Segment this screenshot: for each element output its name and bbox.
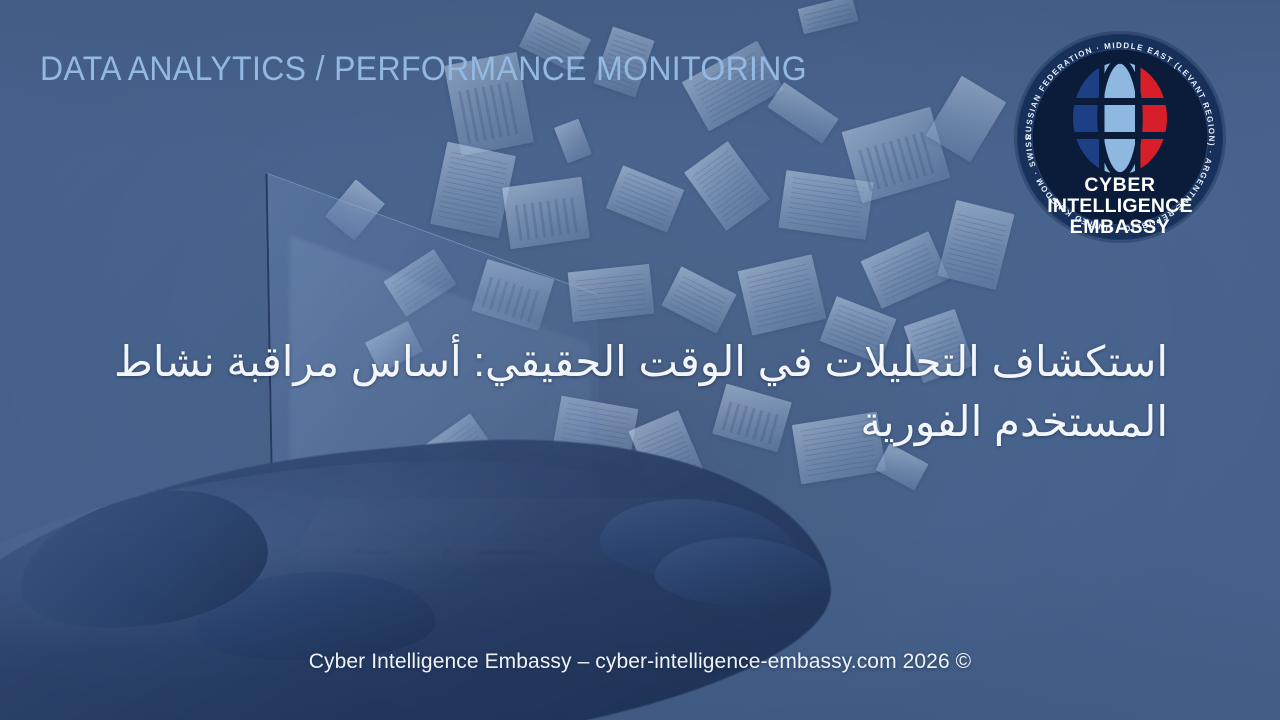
slide-headline: استكشاف التحليلات في الوقت الحقيقي: أساس… [110, 332, 1168, 451]
embassy-logo[interactable]: UNITED STATES OF AMERICA · EUROPEAN UNIO… [1011, 28, 1229, 246]
logo-line-embassy: EMBASSY [1070, 216, 1171, 238]
slide-kicker: DATA ANALYTICS / PERFORMANCE MONITORING [40, 50, 807, 89]
slide-footer: Cyber Intelligence Embassy – cyber-intel… [0, 650, 1280, 674]
logo-line-cyber: CYBER [1084, 174, 1155, 196]
logo-line-intelligence: INTELLIGENCE [1047, 195, 1192, 217]
presentation-slide: DATA ANALYTICS / PERFORMANCE MONITORING … [0, 0, 1280, 720]
